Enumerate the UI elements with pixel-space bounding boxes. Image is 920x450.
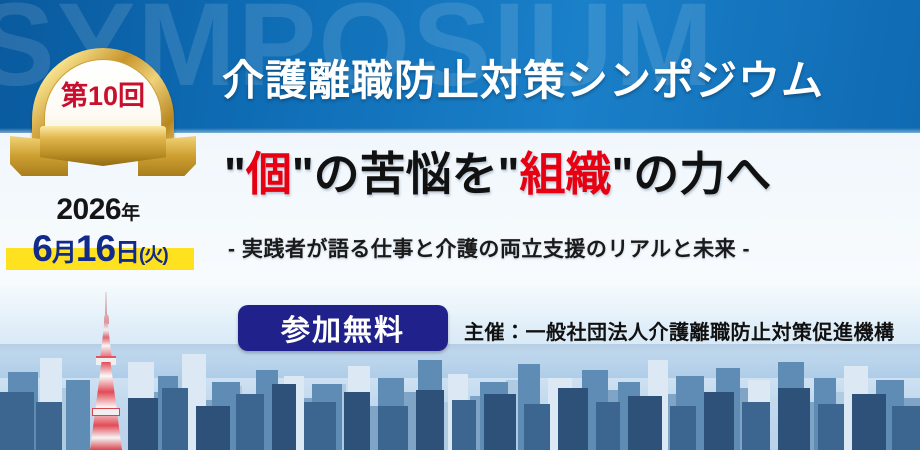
headline-word-soshiki: 組織 [519, 148, 611, 200]
headline: "個"の苦悩を"組織"の力へ [224, 150, 771, 198]
headline-quote-open-2: " [498, 148, 520, 200]
edition-label: 第10回 [32, 74, 174, 113]
medal-ribbon [10, 126, 196, 178]
event-year-suffix: 年 [121, 203, 140, 224]
headline-quote-close-1: " [292, 148, 314, 200]
event-year: 2026年 [0, 193, 196, 227]
event-date-line: 6月16日(火) [0, 228, 200, 274]
event-day-suffix: 日 [115, 239, 139, 267]
free-admission-badge[interactable]: 参加無料 [238, 305, 448, 351]
symposium-banner: SYMPOSIUM 介護離職防止対策シンポジウム "個"の苦悩を"組織"の力へ … [0, 0, 920, 450]
subtitle: - 実践者が語る仕事と介護の両立支援のリアルと未来 - [228, 233, 750, 263]
event-day-number: 16 [76, 228, 115, 269]
headline-quote-open-1: " [224, 148, 246, 200]
city-skyline-photo [0, 286, 920, 450]
event-day-of-week: (火) [139, 245, 168, 266]
headline-tail: の力へ [633, 148, 771, 200]
headline-middle: の苦悩を [314, 148, 498, 200]
free-admission-label: 参加無料 [281, 307, 405, 349]
event-year-number: 2026 [56, 193, 121, 226]
headline-word-ko: 個 [246, 148, 292, 200]
event-month-number: 6 [32, 228, 52, 269]
main-title: 介護離職防止対策シンポジウム [222, 60, 824, 102]
headline-quote-close-2: " [611, 148, 633, 200]
event-month-suffix: 月 [52, 239, 76, 267]
organizer-text: 主催：一般社団法人介護離職防止対策促進機構 [464, 316, 895, 345]
event-date-text: 6月16日(火) [0, 228, 200, 270]
edition-medal-emblem: 第10回 [10, 48, 196, 178]
